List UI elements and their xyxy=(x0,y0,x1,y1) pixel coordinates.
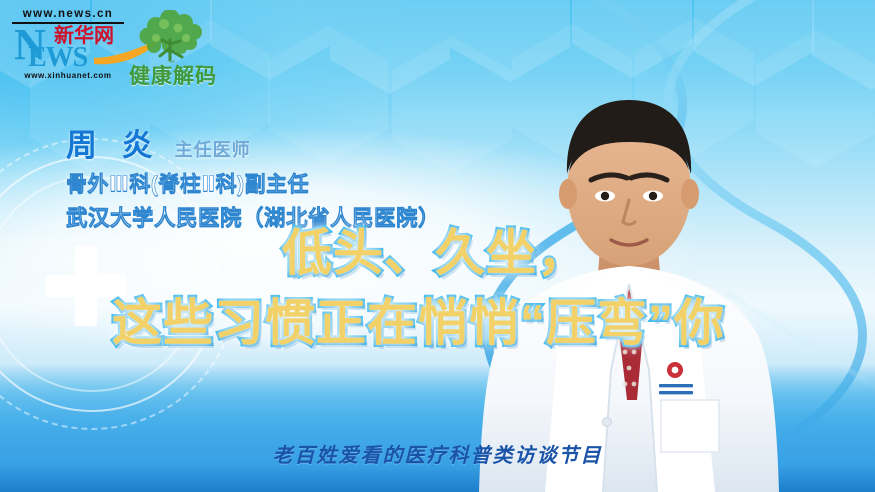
headline-line-1: 低头、久坐， xyxy=(0,225,875,281)
guest-department: 骨外Ⅲ科(脊柱Ⅱ科)副主任 xyxy=(66,168,496,198)
broadcast-title-card: www.news.cn N EWS 新华网 www.xinhuanet.com xyxy=(0,0,875,492)
guest-name: 周 炎 xyxy=(66,120,161,165)
program-title: 健康解码 xyxy=(108,60,238,90)
headline-line-2: 这些习惯正在悄悄“压弯”你 xyxy=(0,295,875,351)
program-brand: 健康解码 xyxy=(112,10,234,90)
logo-letters-ews: EWS xyxy=(28,44,87,72)
guest-rank: 主任医师 xyxy=(175,136,251,162)
program-slogan: 老百姓爱看的医疗科普类访谈节目 xyxy=(0,439,875,468)
tree-icon xyxy=(112,10,234,66)
guest-info: 周 炎 主任医师 骨外Ⅲ科(脊柱Ⅱ科)副主任 武汉大学人民医院（湖北省人民医院） xyxy=(66,120,496,232)
headline: 低头、久坐， 这些习惯正在悄悄“压弯”你 xyxy=(0,225,875,351)
